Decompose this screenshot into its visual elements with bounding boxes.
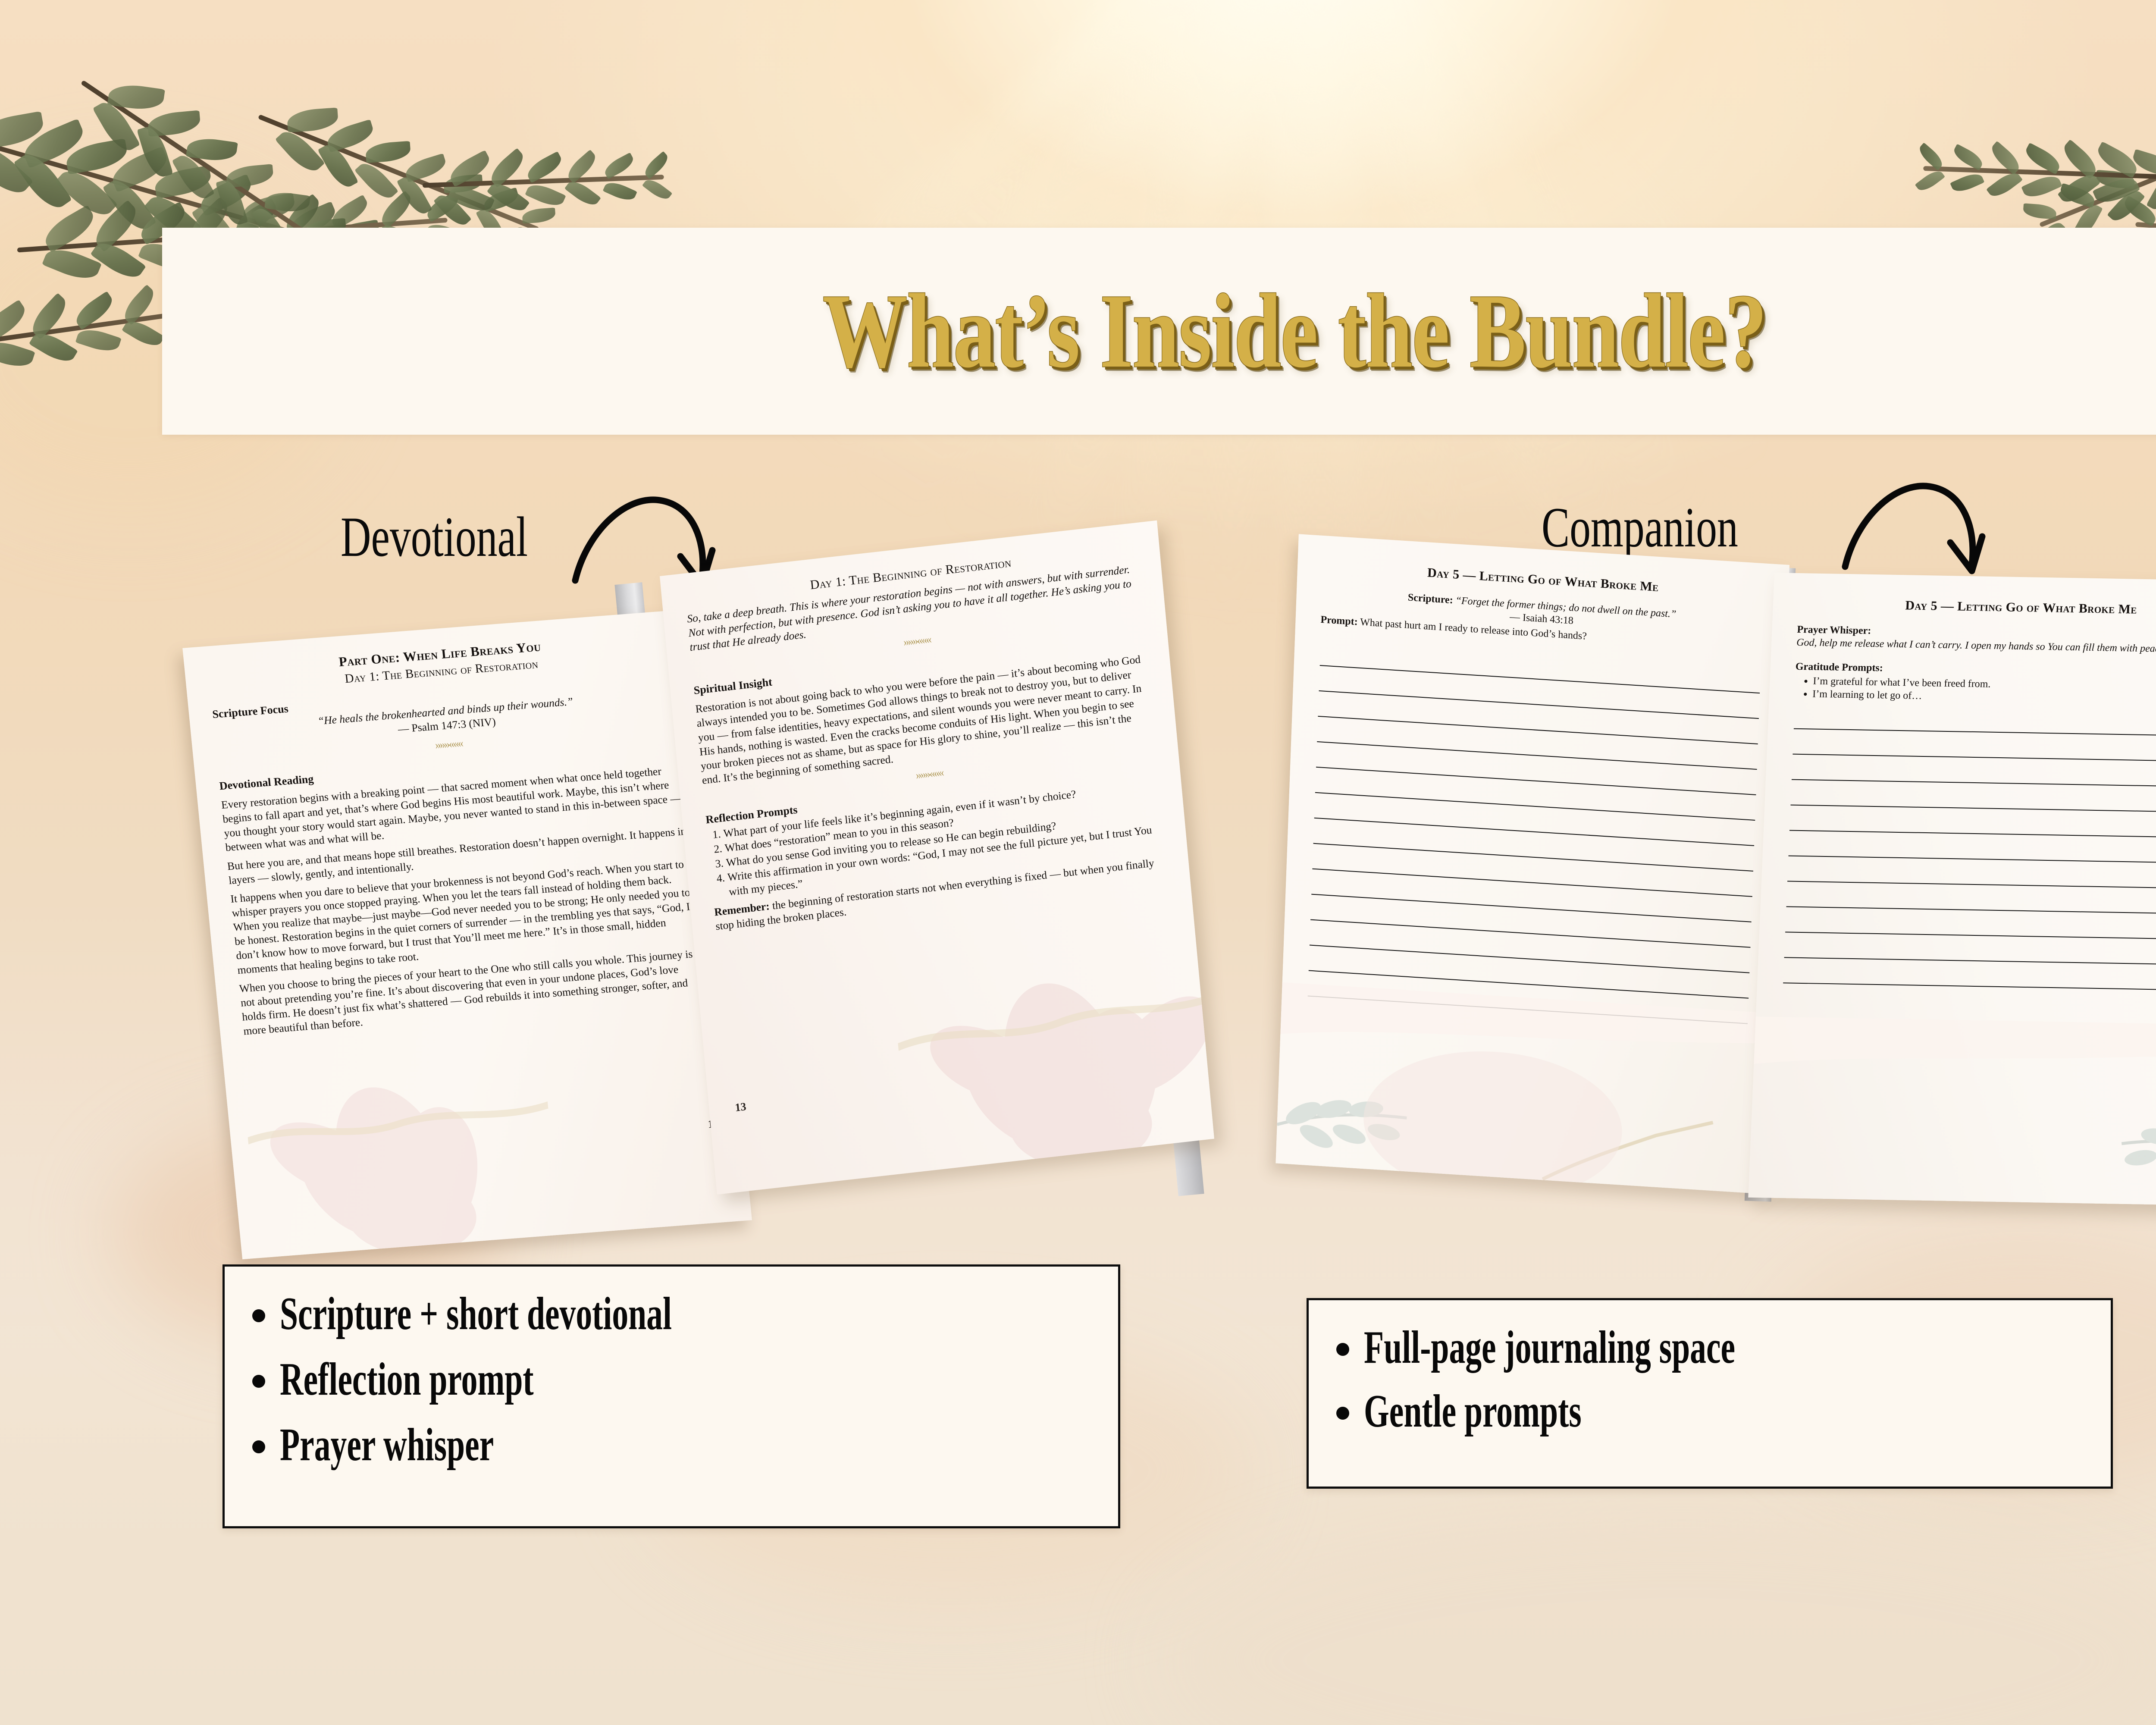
- bullet-dot-icon: [252, 1309, 265, 1322]
- companion-left-page: Day 5 — Letting Go of What Broke Me Scri…: [1275, 534, 1789, 1194]
- prompt-label: Prompt:: [1320, 614, 1358, 627]
- leaf: [2021, 172, 2062, 202]
- journaling-line[interactable]: [1308, 995, 1748, 1024]
- journaling-line[interactable]: [1792, 779, 2156, 788]
- leaf: [525, 180, 566, 210]
- journaling-line[interactable]: [1790, 805, 2156, 813]
- leaf: [365, 141, 411, 163]
- journaling-line[interactable]: [1784, 957, 2156, 966]
- companion-book-mockup: Day 5 — Letting Go of What Broke Me Scri…: [1298, 548, 2156, 1255]
- devotional-features-box: Scripture + short devotionalReflection p…: [222, 1264, 1120, 1528]
- page-number: 13: [734, 1100, 747, 1114]
- journaling-line[interactable]: [1792, 754, 2156, 762]
- companion-features-box: Full-page journaling spaceGentle prompts: [1307, 1298, 2113, 1489]
- feature-list-item: Reflection prompt: [252, 1356, 1091, 1403]
- journaling-line[interactable]: [1315, 792, 1755, 821]
- page-title: What’s Inside the Bundle?: [822, 270, 1766, 392]
- feature-label: Full-page journaling space: [1364, 1324, 1735, 1371]
- devotional-left-page: Part One: When Life Breaks You Day 1: Th…: [182, 609, 752, 1259]
- feature-list-item: Gentle prompts: [1336, 1388, 2083, 1435]
- journaling-line[interactable]: [1785, 931, 2156, 940]
- leaf: [1950, 170, 1984, 195]
- journaling-line[interactable]: [1312, 869, 1752, 897]
- day-heading: Day 5 — Letting Go of What Broke Me: [1798, 596, 2156, 620]
- gratitude-prompts-list: I’m grateful for what I’ve been freed fr…: [1812, 674, 2156, 708]
- leaf: [603, 179, 637, 204]
- journaling-line[interactable]: [1316, 767, 1756, 795]
- olive-branch: [1921, 100, 2156, 246]
- journaling-line[interactable]: [1783, 982, 2156, 991]
- journaling-line[interactable]: [1319, 690, 1759, 719]
- journaling-line[interactable]: [1313, 843, 1753, 872]
- leaf: [1951, 144, 1986, 170]
- companion-right-page: Day 5 — Letting Go of What Broke Me Pray…: [1748, 573, 2156, 1206]
- journaling-line[interactable]: [1318, 716, 1758, 744]
- journaling-line[interactable]: [1787, 881, 2156, 889]
- feature-label: Prayer whisper: [280, 1422, 494, 1468]
- feature-list-item: Scripture + short devotional: [252, 1291, 1091, 1337]
- title-banner: What’s Inside the Bundle?: [162, 228, 2156, 435]
- journaling-line[interactable]: [1314, 818, 1754, 846]
- scripture-label: Scripture:: [1408, 592, 1454, 606]
- journaling-line[interactable]: [1309, 970, 1749, 998]
- journaling-line[interactable]: [1310, 945, 1749, 973]
- feature-label: Gentle prompts: [1364, 1388, 1582, 1435]
- bullet-dot-icon: [1336, 1343, 1349, 1356]
- feature-list-item: Prayer whisper: [252, 1422, 1091, 1468]
- journaling-lines[interactable]: [1307, 665, 1760, 1049]
- bullet-dot-icon: [1336, 1407, 1349, 1420]
- bullet-dot-icon: [252, 1440, 265, 1453]
- feature-label: Reflection prompt: [280, 1356, 534, 1403]
- leaf: [602, 152, 636, 179]
- journaling-line[interactable]: [1789, 830, 2156, 839]
- leaf: [2092, 173, 2140, 208]
- journaling-line[interactable]: [1311, 894, 1751, 922]
- feature-label: Scripture + short devotional: [280, 1291, 672, 1337]
- devotional-right-page: Day 1: The Beginning of Restoration So, …: [660, 521, 1214, 1195]
- journaling-line[interactable]: [1788, 855, 2156, 864]
- leaf: [286, 108, 338, 133]
- feature-list-item: Full-page journaling space: [1336, 1324, 2083, 1371]
- journaling-lines[interactable]: [1782, 728, 2156, 1016]
- bullet-dot-icon: [252, 1375, 265, 1388]
- journaling-line[interactable]: [1317, 741, 1757, 770]
- devotional-book-mockup: Part One: When Life Breaks You Day 1: Th…: [181, 556, 1177, 1246]
- journaling-line[interactable]: [1786, 906, 2156, 915]
- journaling-line[interactable]: [1310, 919, 1750, 948]
- leaf: [447, 182, 495, 216]
